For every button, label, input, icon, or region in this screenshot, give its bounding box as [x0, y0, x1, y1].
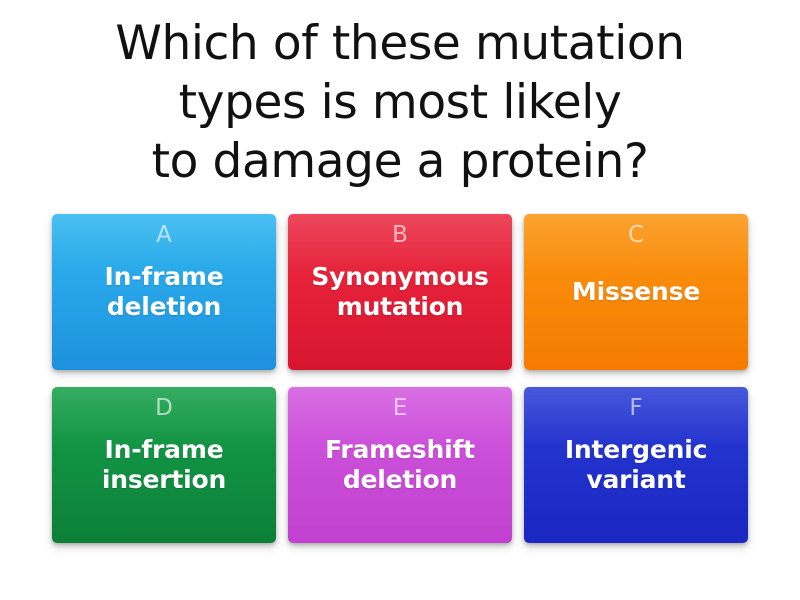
answer-option-f[interactable]: F Intergenic variant: [524, 387, 748, 543]
answer-letter-c: C: [628, 223, 644, 247]
answer-body-a: In-frame deletion: [62, 249, 266, 360]
answer-letter-b: B: [392, 223, 408, 247]
answer-body-d: In-frame insertion: [62, 422, 266, 533]
quiz-container: Which of these mutation types is most li…: [0, 0, 800, 600]
answer-letter-e: E: [393, 396, 408, 420]
answer-body-b: Synonymous mutation: [298, 249, 502, 360]
answer-option-b[interactable]: B Synonymous mutation: [288, 214, 512, 370]
question-area: Which of these mutation types is most li…: [0, 0, 800, 214]
answer-options-grid: A In-frame deletion B Synonymous mutatio…: [0, 214, 800, 600]
answer-body-f: Intergenic variant: [534, 422, 738, 533]
answer-letter-a: A: [156, 223, 172, 247]
answer-label-f: Intergenic variant: [565, 435, 707, 495]
answer-option-d[interactable]: D In-frame insertion: [52, 387, 276, 543]
answer-label-e: Frameshift deletion: [325, 435, 475, 495]
answer-option-c[interactable]: C Missense: [524, 214, 748, 370]
answer-option-a[interactable]: A In-frame deletion: [52, 214, 276, 370]
answer-label-a: In-frame deletion: [105, 262, 224, 322]
answer-label-d: In-frame insertion: [102, 435, 226, 495]
answer-label-b: Synonymous mutation: [311, 262, 488, 322]
answer-letter-f: F: [629, 396, 642, 420]
answer-body-c: Missense: [534, 249, 738, 360]
question-text: Which of these mutation types is most li…: [115, 14, 684, 192]
answer-letter-d: D: [155, 396, 173, 420]
answer-label-c: Missense: [572, 277, 700, 307]
answer-option-e[interactable]: E Frameshift deletion: [288, 387, 512, 543]
answer-body-e: Frameshift deletion: [298, 422, 502, 533]
